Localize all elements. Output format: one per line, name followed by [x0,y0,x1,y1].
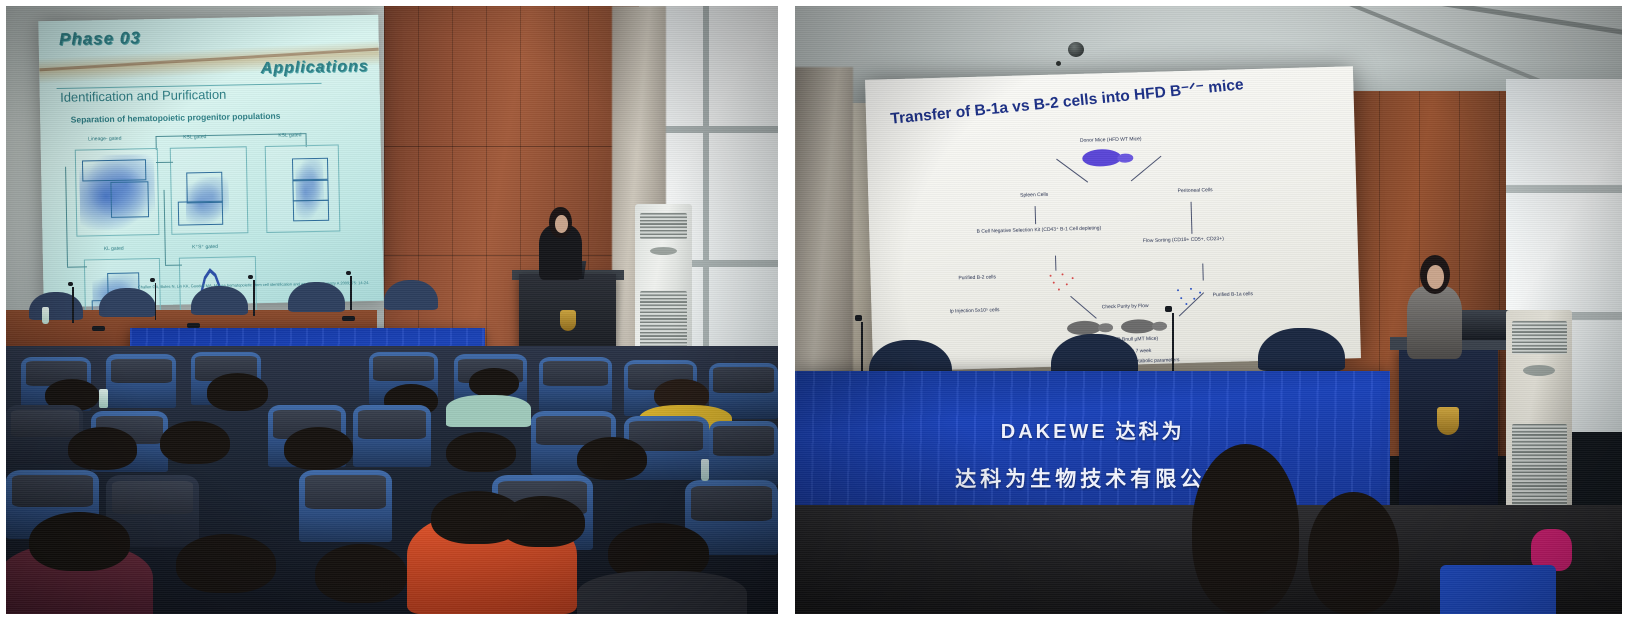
air-conditioner-right [1506,310,1572,529]
audience-area [6,346,778,614]
microphone-head [68,282,73,286]
microphone [350,276,352,310]
flow-plot-lineage [74,148,159,237]
left-photo-panel: Phase 03 Applications Identification and… [6,6,778,614]
audience-head [160,421,229,464]
curtain [795,67,853,407]
microphone [253,280,255,316]
microphone-base [92,326,105,331]
audience-mint-jacket [446,395,531,427]
ceiling-sensor-icon [1056,61,1061,66]
recipient-mouse-head-icon [1099,323,1114,332]
audience-head [284,427,353,470]
donor-mouse-icon [1082,149,1122,168]
audience-head [500,496,585,547]
flow-plot-ksl [170,146,248,235]
diagram-label-purified-b1a: Purified B-1a cells [1213,289,1320,299]
microphone [861,322,863,377]
panel-chair [288,282,345,312]
diagram-label-purified-b2: Purified B-2 cells [959,273,1037,282]
audience-head [176,534,276,593]
plot-label-ksl: KSL gated [183,134,206,140]
podium-emblem [1437,407,1459,435]
recipient-mouse-icon [1121,318,1156,334]
blue-object [1440,565,1556,614]
auditorium-seat [709,421,778,485]
flow-plot-ksl-2 [265,144,340,233]
diagram-label-peritoneal: Peritoneal Cells [1142,186,1249,196]
diagram-label-flow-sorting: Flow Sorting (CD19+ CD5+, CD23+) [1143,235,1270,245]
audience-head [469,368,519,397]
audience-head [207,373,269,410]
audience-head [68,427,137,470]
wood-seam [384,146,646,147]
podium-emblem [560,310,576,331]
plot-label-kl: KL gated [103,246,123,252]
diagram-label-ip-injection: Ip Injection 5x10⁵ cells [950,306,1038,315]
air-conditioner-left [635,204,691,365]
speaker-sweater [1407,286,1462,359]
banner-brand: DAKEWE达科为 [795,415,1390,444]
microphone [155,283,157,319]
right-photo-panel: Transfer of B-1a vs B-2 cells into HFD B… [795,6,1622,614]
slide-heading: Identification and Purification [60,86,226,104]
b2-cell-dots-icon [1047,272,1082,293]
audience-shoulder [577,571,747,614]
projection-screen-left: Phase 03 Applications Identification and… [38,15,383,307]
auditorium-seat [353,405,430,467]
audience-head [1192,444,1300,614]
audience-head [315,544,408,603]
water-bottle [42,307,49,324]
slide-phase-label: Phase 03 [59,28,141,50]
recipient-mouse-head-icon [1152,322,1167,331]
auditorium-seat [106,354,175,408]
banner-company-cn: 达科为生物技术有限公司 [795,463,1390,493]
audience-head [577,437,646,480]
photo-pair-stage: Phase 03 Applications Identification and… [0,0,1628,620]
plot-label-lineage: Lineage- gated [88,136,121,143]
slide-section-label: Applications [260,58,368,78]
water-bottle [99,389,108,408]
wood-seam [384,255,646,256]
microphone [1172,313,1174,374]
diagram-label-spleen: Spleen Cells [986,190,1084,199]
donor-mouse-head-icon [1117,153,1134,163]
microphone-head [346,271,351,275]
plot-label-ksl-2: KSL gated [278,132,301,138]
audience-head [29,512,129,571]
slide-subheading: Separation of hematopoietic progenitor p… [70,111,280,125]
plot-label-ks: K⁺S⁺ gated [192,244,218,250]
diagram-label-bcell-kit: B Cell Negative Selection Kit (CD43⁺ B-1… [977,225,1104,235]
projection-screen-right: Transfer of B-1a vs B-2 cells into HFD B… [865,66,1361,371]
microphone [72,287,74,323]
audience-head [446,432,515,472]
auditorium-seat [299,470,392,542]
podium-right [1399,346,1498,504]
audience-head [1308,492,1399,614]
auditorium-seat [539,357,612,411]
microphone-base [342,316,355,321]
water-bottle [701,459,709,481]
microphone-head [855,315,862,321]
recipient-mouse-icon [1067,320,1102,336]
panel-chair [99,288,156,317]
microphone-head [1165,306,1172,312]
diagram-label-donor: Donor Mice (HFD WT Mice) [1014,134,1209,146]
